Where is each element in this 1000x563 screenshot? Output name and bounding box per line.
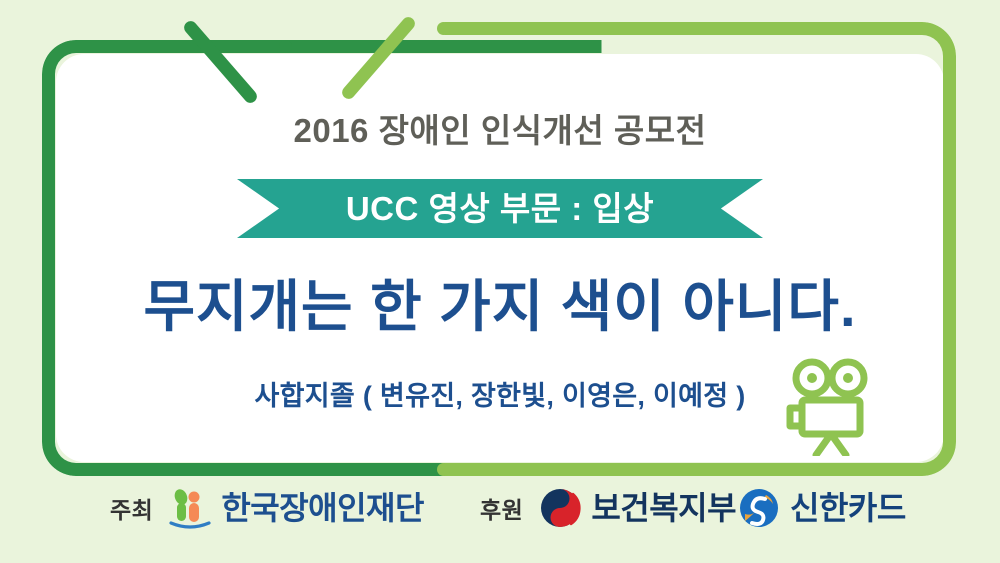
shinhan-card-globe-logo xyxy=(736,485,782,531)
video-camera-icon xyxy=(780,356,890,456)
footer-group-host: 주최 한국장애인재단 xyxy=(110,484,424,532)
host-organization: 한국장애인재단 xyxy=(221,492,424,524)
category-ribbon: UCC 영상 부문 : 입상 xyxy=(237,179,763,238)
work-title: 무지개는 한 가지 색이 아니다. xyxy=(0,262,1000,343)
sponsor-label: 후원 xyxy=(480,491,523,525)
frame-light-cap-top xyxy=(437,22,450,35)
partner-organization: 신한카드 xyxy=(790,492,906,524)
sponsor-organization: 보건복지부 xyxy=(591,492,736,524)
host-label: 주최 xyxy=(110,491,153,525)
frame-dark-cap-top xyxy=(279,40,292,53)
korea-disability-foundation-logo xyxy=(167,485,213,531)
footer-group-sponsor: 후원 보건복지부 xyxy=(480,484,736,532)
footer-group-partner: 신한카드 xyxy=(722,484,906,532)
poster-canvas: 2016 장애인 인식개선 공모전 UCC 영상 부문 : 입상 무지개는 한 … xyxy=(0,0,1000,563)
competition-title: 2016 장애인 인식개선 공모전 xyxy=(0,104,1000,152)
frame-light-cap-bottom xyxy=(437,463,450,476)
korean-government-taegeuk-logo xyxy=(537,485,583,531)
category-ribbon-label: UCC 영상 부문 : 입상 xyxy=(346,192,654,225)
sponsor-footer: 주최 한국장애인재단 후원 보건복지부 xyxy=(0,484,1000,540)
